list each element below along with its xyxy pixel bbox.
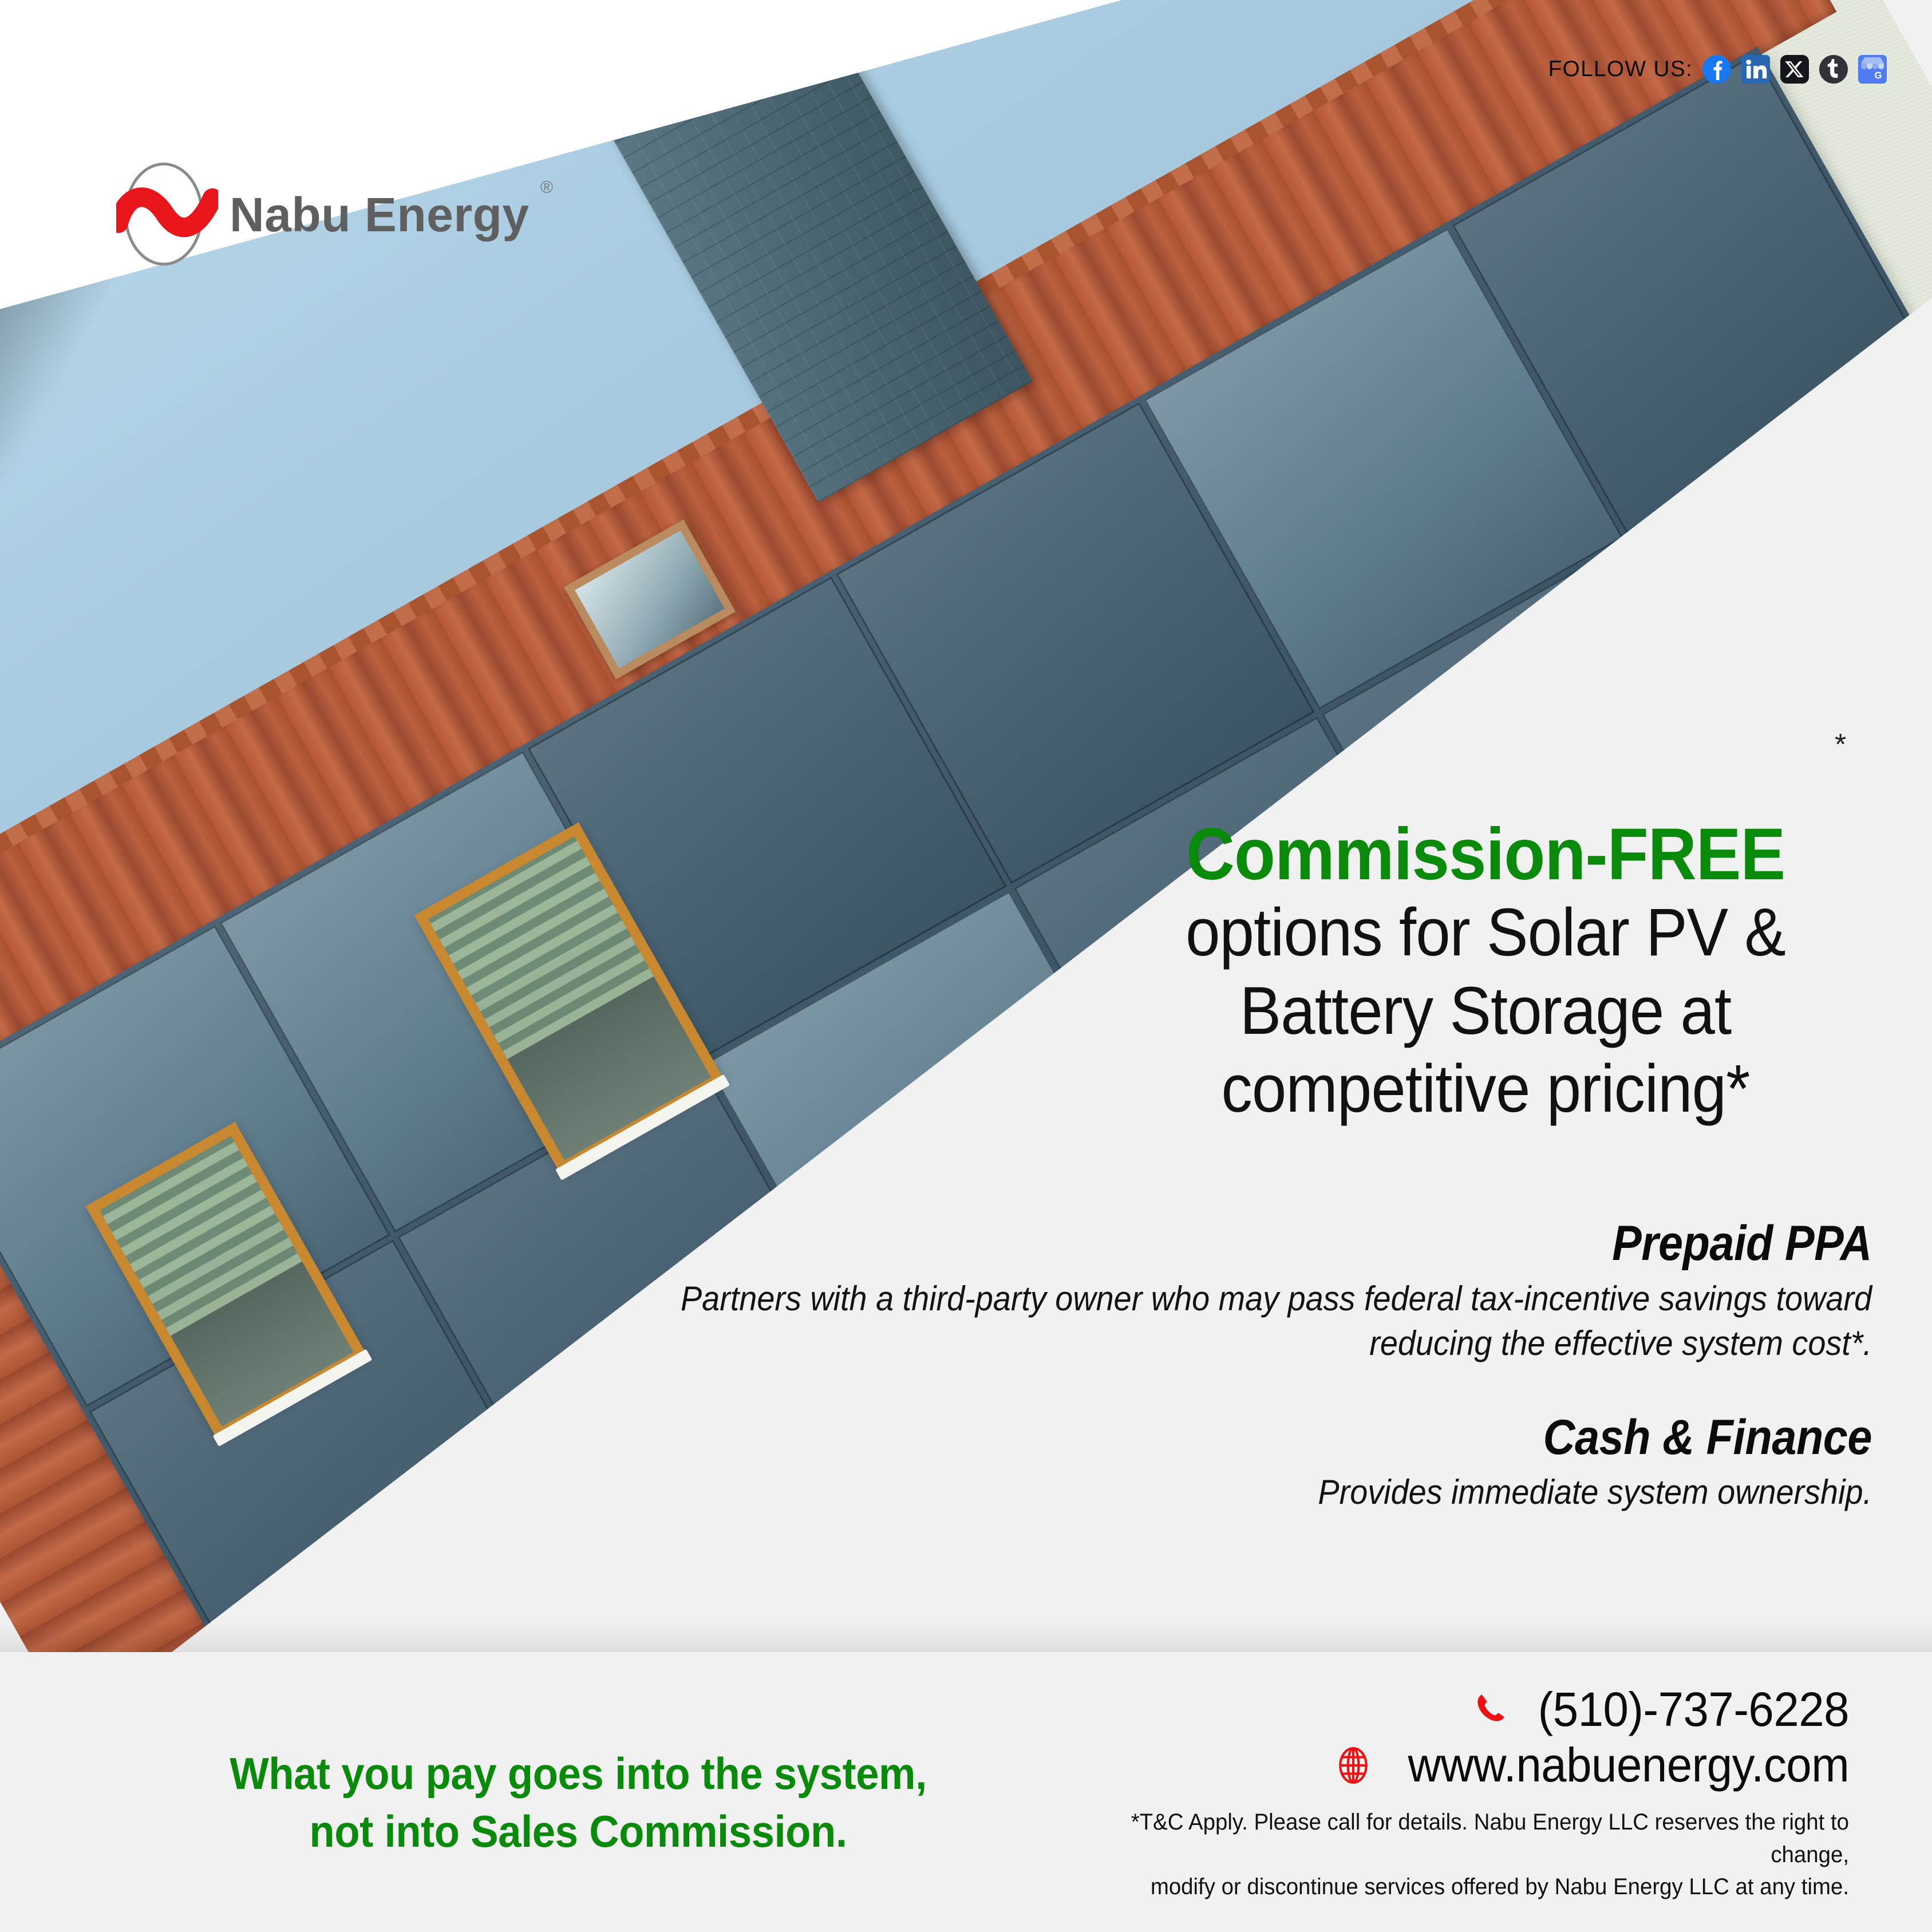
- poster-canvas: Nabu Energy ® FOLLOW US:: [0, 0, 1932, 1932]
- tagline-line-2: not into Sales Commission.: [309, 1806, 847, 1856]
- website-row[interactable]: www.nabuenergy.com: [1036, 1737, 1849, 1793]
- footer-tagline: What you pay goes into the system, not i…: [99, 1745, 1057, 1861]
- phone-number: (510)-737-6228: [1538, 1682, 1849, 1737]
- brand-wordmark: Nabu Energy ®: [230, 191, 530, 239]
- footer-divider: [0, 1620, 1932, 1652]
- website-url: www.nabuenergy.com: [1408, 1737, 1849, 1793]
- offer-spacer: [561, 1366, 1872, 1411]
- headline-highlight: Commission-FREE: [1135, 816, 1836, 894]
- headline-line-2: Battery Storage at: [1135, 972, 1836, 1050]
- footer-disclaimer: *T&C Apply. Please call for details. Nab…: [1069, 1806, 1849, 1903]
- logo-wave-stroke: [116, 182, 218, 245]
- offers-block: Prepaid PPA Partners with a third-party …: [561, 1216, 1872, 1515]
- headline-line-1: options for Solar PV &: [1135, 894, 1836, 972]
- tumblr-icon[interactable]: [1819, 54, 1848, 84]
- offer-description-prepaid-ppa: Partners with a third-party owner who ma…: [653, 1277, 1872, 1366]
- x-twitter-icon[interactable]: [1780, 54, 1809, 84]
- disclaimer-line-2: modify or discontinue services offered b…: [1151, 1874, 1849, 1899]
- follow-us-bar: FOLLOW US: G: [1548, 54, 1887, 84]
- phone-icon: [1471, 1691, 1509, 1729]
- follow-us-label: FOLLOW US:: [1548, 57, 1693, 82]
- registered-mark: ®: [540, 179, 554, 196]
- offer-description-cash-finance: Provides immediate system ownership.: [653, 1470, 1872, 1515]
- footnote-asterisk: *: [1835, 730, 1846, 760]
- headline-line-3: competitive pricing*: [1135, 1050, 1836, 1128]
- phone-row[interactable]: (510)-737-6228: [1036, 1682, 1849, 1737]
- disclaimer-line-1: *T&C Apply. Please call for details. Nab…: [1131, 1809, 1849, 1867]
- contact-block: (510)-737-6228 www.nabuenergy.com *T&C A…: [1036, 1682, 1849, 1903]
- nabu-wave-icon: [117, 160, 215, 269]
- brand-logo[interactable]: Nabu Energy ®: [117, 160, 530, 269]
- linkedin-icon[interactable]: [1741, 54, 1771, 84]
- brand-name: Nabu Energy: [230, 188, 530, 242]
- google-business-icon[interactable]: G: [1858, 54, 1887, 84]
- footer-bar: What you pay goes into the system, not i…: [0, 1652, 1932, 1932]
- headline-block: Commission-FREE options for Solar PV & B…: [1105, 816, 1866, 1128]
- tagline-line-1: What you pay goes into the system,: [230, 1748, 927, 1799]
- facebook-icon[interactable]: [1702, 54, 1732, 84]
- offer-title-cash-finance: Cash & Finance: [692, 1411, 1872, 1465]
- svg-text:G: G: [1874, 70, 1882, 81]
- offer-title-prepaid-ppa: Prepaid PPA: [692, 1216, 1872, 1271]
- globe-icon: [1334, 1747, 1372, 1784]
